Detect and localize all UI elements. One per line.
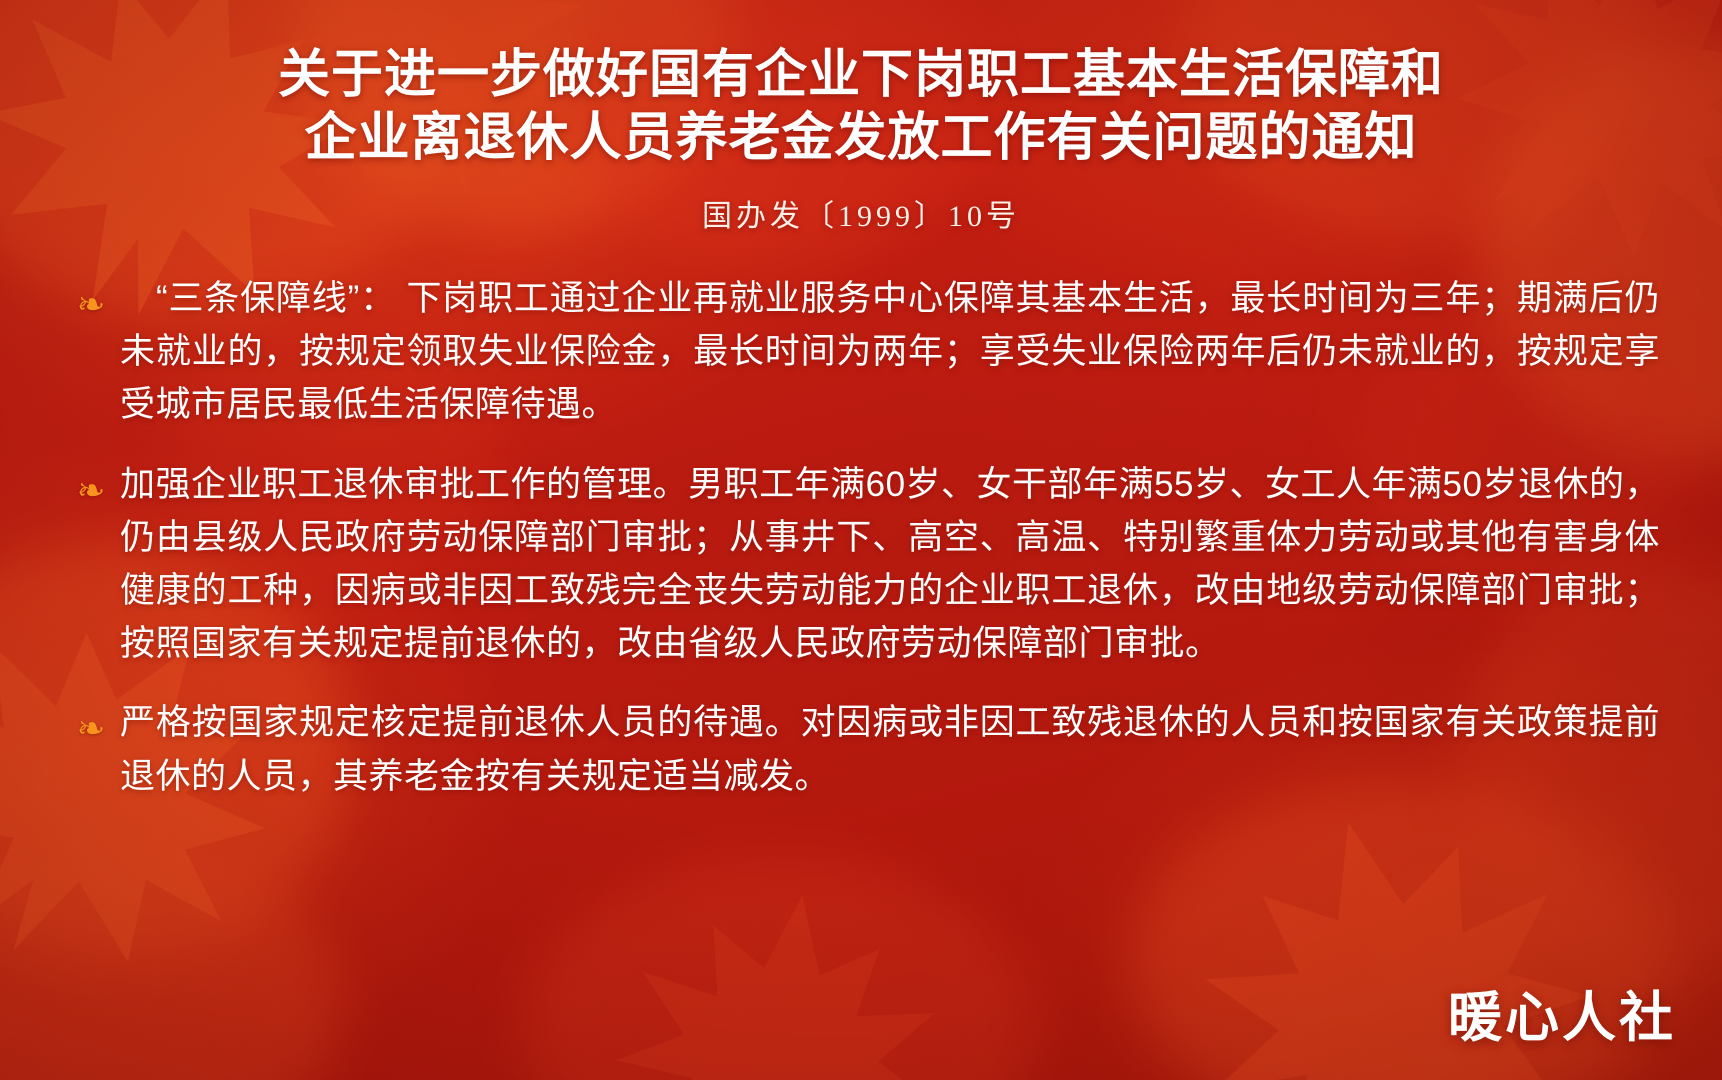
list-item: ❧ 严格按国家规定核定提前退休人员的待遇。对因病或非因工致残退休的人员和按国家有…	[62, 696, 1660, 802]
list-item-text: “三条保障线”： 下岗职工通过企业再就业服务中心保障其基本生活，最长时间为三年；…	[120, 272, 1660, 432]
fleuron-bullet-icon: ❧	[62, 272, 120, 322]
list-item-text: 严格按国家规定核定提前退休人员的待遇。对因病或非因工致残退休的人员和按国家有关政…	[120, 696, 1660, 802]
document-number: 国办发〔1999〕10号	[0, 191, 1722, 235]
list-item: ❧ “三条保障线”： 下岗职工通过企业再就业服务中心保障其基本生活，最长时间为三…	[62, 272, 1660, 432]
fleuron-bullet-icon: ❧	[62, 696, 120, 746]
slide-canvas: 关于进一步做好国有企业下岗职工基本生活保障和 企业离退休人员养老金发放工作有关问…	[0, 0, 1722, 1080]
watermark-logo: 暖心人社	[1448, 973, 1676, 1052]
page-title-line-2: 企业离退休人员养老金发放工作有关问题的通知	[0, 107, 1722, 170]
page-title-line-1: 关于进一步做好国有企业下岗职工基本生活保障和	[0, 44, 1722, 107]
slide-body: ❧ “三条保障线”： 下岗职工通过企业再就业服务中心保障其基本生活，最长时间为三…	[62, 272, 1660, 829]
slide-header: 关于进一步做好国有企业下岗职工基本生活保障和 企业离退休人员养老金发放工作有关问…	[0, 44, 1722, 235]
list-item: ❧ 加强企业职工退休审批工作的管理。男职工年满60岁、女干部年满55岁、女工人年…	[62, 458, 1660, 671]
list-item-text: 加强企业职工退休审批工作的管理。男职工年满60岁、女干部年满55岁、女工人年满5…	[120, 458, 1660, 671]
fleuron-bullet-icon: ❧	[62, 458, 120, 508]
